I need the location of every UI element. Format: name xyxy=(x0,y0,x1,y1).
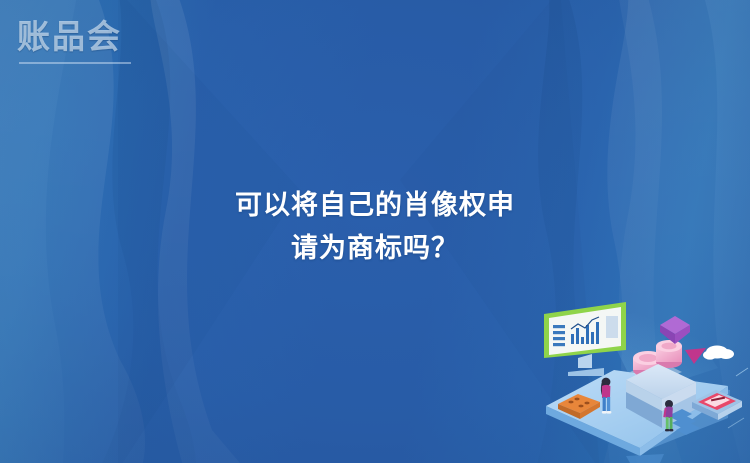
brand-logo-underline xyxy=(19,62,131,64)
business-illustration xyxy=(530,298,750,463)
brand-logo[interactable]: 账品会 xyxy=(17,17,135,67)
page-title: 可以将自己的肖像权申 请为商标吗？ xyxy=(0,184,750,270)
coin-stack-right xyxy=(656,340,682,368)
brand-logo-text: 账品会 xyxy=(17,17,135,57)
isometric-illustration-svg xyxy=(530,298,750,463)
dashboard-monitor xyxy=(544,302,626,376)
page-title-line-2: 请为商标吗？ xyxy=(0,227,750,270)
promo-banner: 账品会 可以将自己的肖像权申 请为商标吗？ xyxy=(0,0,750,463)
page-title-line-1: 可以将自己的肖像权申 xyxy=(0,184,750,227)
cloud-icon xyxy=(703,346,734,360)
